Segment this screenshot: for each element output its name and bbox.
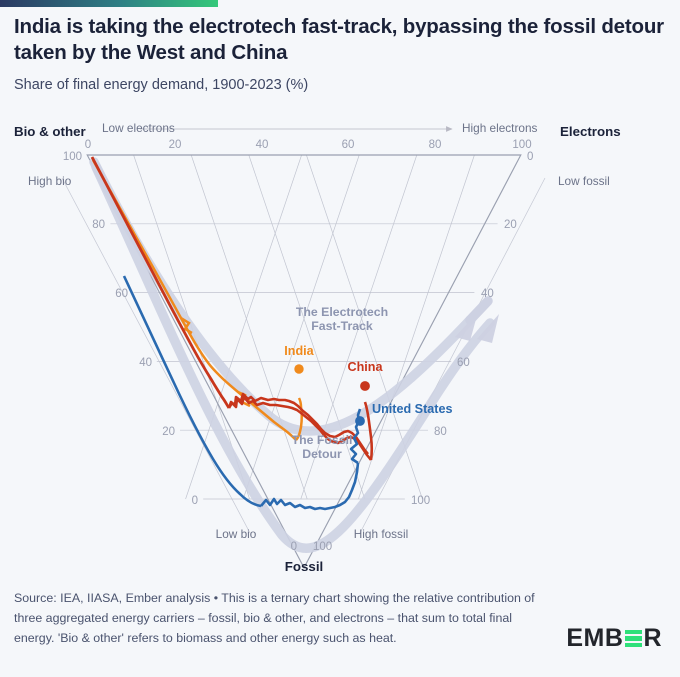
top-tick-40: 40: [256, 139, 269, 151]
left-tick-60: 60: [115, 288, 128, 300]
left-tick-40: 40: [139, 357, 152, 369]
annotation-fossil-detour: The Fossil Detour: [292, 433, 353, 461]
left-tick-0: 0: [192, 495, 198, 507]
ternary-chart: 0 20 40 60 80 100 100 80 60 40 20 0 0 20…: [0, 115, 680, 580]
high-bio-label: High bio: [28, 174, 72, 188]
left-tick-100: 100: [63, 151, 82, 163]
ember-logo-text-right: R: [643, 624, 662, 653]
low-electrons-label: Low electrons: [102, 121, 175, 135]
right-tick-80: 80: [434, 426, 447, 438]
source-note: Source: IEA, IIASA, Ember analysis • Thi…: [14, 588, 544, 648]
svg-text:The Fossil: The Fossil: [292, 433, 353, 447]
annotation-electrotech-fast-track: The Electrotech Fast-Track: [296, 305, 388, 333]
top-tick-60: 60: [342, 139, 355, 151]
low-bio-label: Low bio: [216, 527, 257, 541]
fossil-corner-label: Fossil: [285, 559, 323, 574]
electrons-corner-label: Electrons: [560, 124, 621, 139]
high-electrons-label: High electrons: [462, 121, 538, 135]
brand-accent-bar: [0, 0, 218, 7]
svg-text:Detour: Detour: [302, 447, 342, 461]
svg-text:The Electrotech: The Electrotech: [296, 305, 388, 319]
page-subtitle: Share of final energy demand, 1900-2023 …: [14, 77, 666, 93]
top-axis-ticks: 0 20 40 60 80 100: [85, 139, 532, 151]
right-tick-100: 100: [411, 495, 430, 507]
right-tick-40: 40: [481, 288, 494, 300]
top-tick-80: 80: [429, 139, 442, 151]
ember-logo-e-icon: [625, 630, 642, 648]
datapoint-china[interactable]: [360, 381, 370, 391]
ternary-chart-svg: 0 20 40 60 80 100 100 80 60 40 20 0 0 20…: [0, 115, 680, 580]
bio-other-corner-label: Bio & other: [14, 124, 86, 139]
page-title: India is taking the electrotech fast-tra…: [14, 14, 666, 66]
right-tick-20: 20: [504, 219, 517, 231]
low-fossil-label: Low fossil: [558, 174, 610, 188]
left-tick-80: 80: [92, 219, 105, 231]
datapoint-united-states[interactable]: [355, 416, 365, 426]
label-india: India: [284, 344, 314, 358]
bottom-tick-100: 100: [313, 541, 332, 553]
top-tick-100: 100: [512, 139, 531, 151]
right-tick-60: 60: [457, 357, 470, 369]
ember-logo-text-left: EMB: [566, 624, 623, 653]
datapoint-india[interactable]: [294, 364, 303, 373]
top-tick-0: 0: [85, 139, 91, 151]
label-china: China: [348, 360, 384, 374]
chart-header: India is taking the electrotech fast-tra…: [14, 14, 666, 93]
left-axis-ticks: 100 80 60 40 20 0: [63, 151, 198, 507]
top-tick-20: 20: [169, 139, 182, 151]
ember-logo: EMB R: [566, 624, 662, 653]
right-tick-0: 0: [527, 151, 533, 163]
bottom-tick-0: 0: [291, 541, 297, 553]
high-fossil-label: High fossil: [354, 527, 408, 541]
svg-text:Fast-Track: Fast-Track: [311, 319, 373, 333]
left-tick-20: 20: [162, 426, 175, 438]
label-united-states: United States: [372, 402, 452, 416]
